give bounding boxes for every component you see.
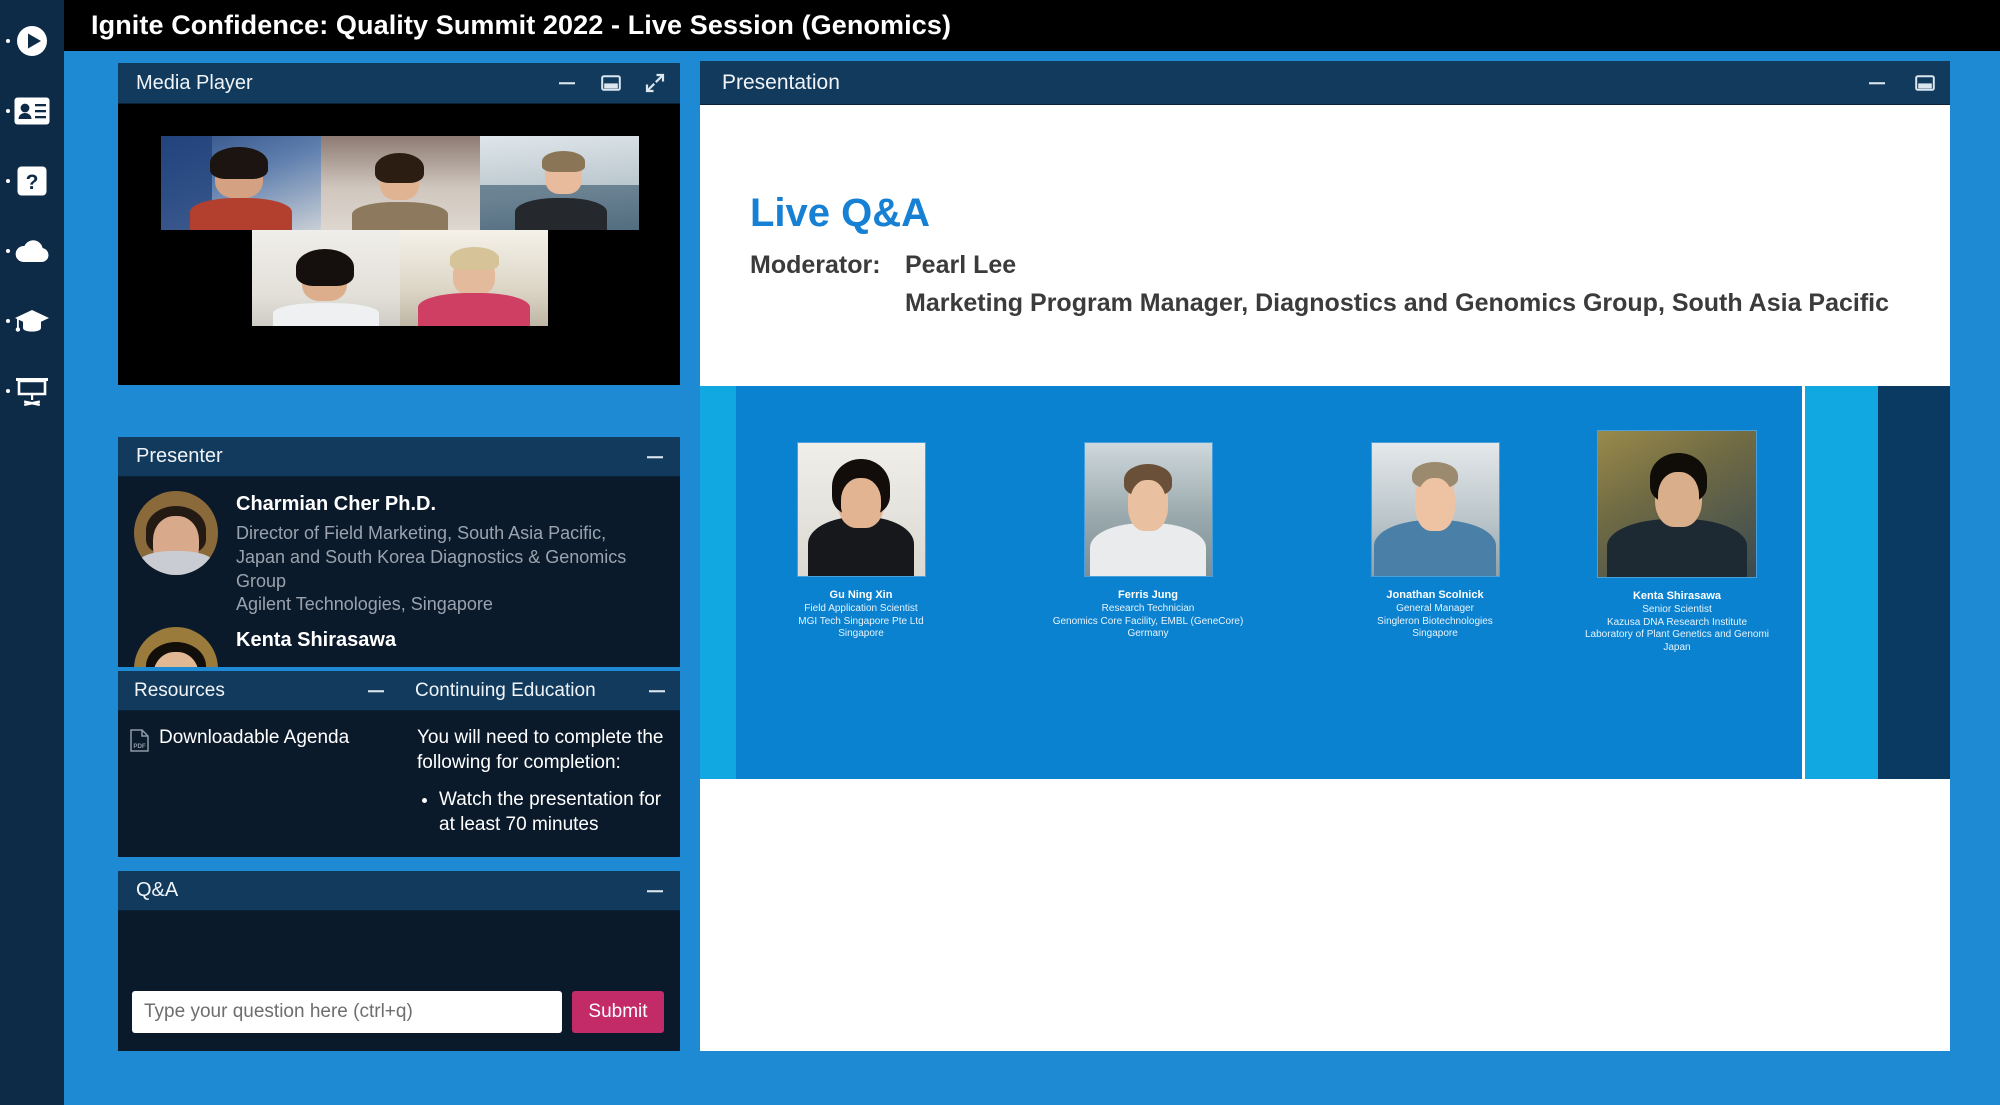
qa-header: Q&A [118,871,680,911]
presentation-panel: Presentation Live Q&A Moderator: Pearl L… [700,61,1950,1051]
title-bar: Ignite Confidence: Quality Summit 2022 -… [64,0,2000,51]
panelist-card: Gu Ning Xin Field Application Scientist … [746,442,976,641]
continuing-education-body: You will need to complete the following … [399,711,680,857]
media-play-icon[interactable] [15,24,49,58]
avatar [134,491,218,575]
page-title: Ignite Confidence: Quality Summit 2022 -… [64,10,951,41]
rail-bullet [6,109,10,113]
video-row-top [161,136,639,230]
presentation-controls [1866,72,1936,94]
rail-item-speaker-bio[interactable] [0,76,64,146]
continuing-education-requirements: Watch the presentation for at least 70 m… [439,787,666,837]
presenter-header: Presenter [118,437,680,477]
panelist-line: MGI Tech Singapore Pte Ltd [746,616,976,629]
presenter-panel: Presenter Charmian Cher Ph.D. Director o… [118,437,680,667]
slide-header-area: Live Q&A Moderator: Pearl Lee Marketing … [700,105,1950,386]
video-row-bottom [161,230,639,326]
minimize-icon[interactable] [1866,72,1888,94]
rail-item-media[interactable] [0,6,64,76]
presenter-name: Kenta Shirasawa [236,629,396,652]
panelist-line: Genomics Core Facility, EMBL (GeneCore) [1033,616,1263,629]
panelist-line: Research Technician [1033,603,1263,616]
rail-item-continuing-education[interactable] [0,286,64,356]
rail-bullet [6,319,10,323]
rail-bullet [6,179,10,183]
continuing-education-intro: You will need to complete the following … [417,725,666,775]
presenter-title: Presenter [136,445,223,468]
moderator-label: Moderator: [750,251,881,280]
slide-footer-area [700,779,1950,1051]
media-player-controls [556,72,666,94]
expand-icon[interactable] [644,72,666,94]
speaker-bio-icon[interactable] [14,97,50,125]
rail-item-presentation[interactable] [0,356,64,426]
minimize-icon[interactable] [644,446,666,468]
panelist-line: Singapore [1320,628,1550,641]
panelist-line: Kazusa DNA Research Institute [1562,617,1792,630]
rail-bullet [6,249,10,253]
rail-bullet [6,39,10,43]
list-item: Watch the presentation for at least 70 m… [439,787,666,837]
panelist-card: Kenta Shirasawa Senior Scientist Kazusa … [1562,430,1792,655]
pdf-file-icon[interactable]: PDF [130,729,149,757]
slide-accent-strip-right [1802,386,1878,779]
presentation-slide[interactable]: Live Q&A Moderator: Pearl Lee Marketing … [700,105,1950,1051]
resources-list: PDF Downloadable Agenda [118,711,399,857]
presenter-company-line: Agilent Technologies, Singapore [236,593,626,617]
resources-header: Resources [118,671,399,711]
resources-title: Resources [134,680,225,702]
panelist-line: Laboratory of Plant Genetics and Genomi [1562,629,1792,642]
slide-panelist-band: Gu Ning Xin Field Application Scientist … [700,386,1950,779]
rail-item-help[interactable]: ? [0,146,64,216]
panelist-name: Ferris Jung [1033,589,1263,603]
slide-title: Live Q&A [750,191,930,236]
qa-controls [644,880,666,902]
help-icon[interactable]: ? [17,166,47,196]
presenter-role-line: Group [236,570,626,594]
panelist-grid: Gu Ning Xin Field Application Scientist … [736,386,1802,779]
continuing-education-panel: Continuing Education You will need to co… [399,671,680,857]
certification-icon[interactable] [14,307,50,335]
panelist-line: Singapore [746,628,976,641]
panelist-line: Field Application Scientist [746,603,976,616]
presenter-details: Charmian Cher Ph.D. Director of Field Ma… [218,491,626,617]
media-player-video-area[interactable] [118,104,680,385]
video-tile-participant-1 [161,136,321,230]
qa-body: Submit [118,911,680,1051]
continuing-education-title: Continuing Education [415,680,596,702]
presenter-entry[interactable]: Kenta Shirasawa [118,617,680,667]
rail-bullet [6,389,10,393]
presenter-entry[interactable]: Charmian Cher Ph.D. Director of Field Ma… [118,477,680,617]
panelist-photo [797,442,926,577]
presentation-header: Presentation [700,61,1950,105]
minimize-icon[interactable] [644,880,666,902]
panelist-name: Jonathan Scolnick [1320,589,1550,603]
continuing-education-controls [646,680,668,702]
avatar [134,627,218,667]
minimize-icon[interactable] [646,680,668,702]
slide-accent-strip-left [700,386,736,779]
video-tile-participant-2 [321,136,480,230]
presentation-icon[interactable] [15,376,49,406]
presenter-name: Charmian Cher Ph.D. [236,493,626,516]
media-player-header: Media Player [118,63,680,104]
minimize-icon[interactable] [365,680,387,702]
panelist-photo [1597,430,1757,578]
presenter-controls [644,446,666,468]
app-rail: ? [0,0,64,1105]
restore-window-icon[interactable] [1914,72,1936,94]
resources-panel: Resources PDF Downloadable Agenda [118,671,399,857]
video-tile-participant-5 [400,230,548,326]
panelist-card: Ferris Jung Research Technician Genomics… [1033,442,1263,641]
panelist-line: Senior Scientist [1562,604,1792,617]
svg-text:PDF: PDF [133,743,146,750]
slide-accent-strip-dark [1878,386,1950,779]
restore-window-icon[interactable] [600,72,622,94]
rail-item-cloud[interactable] [0,216,64,286]
cloud-icon[interactable] [13,238,51,264]
resources-controls [365,680,387,702]
qa-question-input[interactable] [132,991,562,1033]
video-grid [161,136,639,336]
presenter-details: Kenta Shirasawa [218,627,396,667]
resource-link-downloadable-agenda[interactable]: Downloadable Agenda [159,727,349,749]
panelist-name: Kenta Shirasawa [1562,590,1792,604]
video-tile-participant-3 [480,136,639,230]
media-player-panel: Media Player [118,63,680,385]
moderator-name: Pearl Lee [905,251,1016,280]
workspace: Media Player [64,51,2000,1105]
video-tile-participant-4 [252,230,400,326]
presentation-title: Presentation [722,71,840,95]
qa-compose-row: Submit [132,991,664,1033]
media-player-title: Media Player [136,72,253,95]
panelist-photo [1371,442,1500,577]
presenter-list[interactable]: Charmian Cher Ph.D. Director of Field Ma… [118,477,680,667]
panelist-line: Japan [1562,642,1792,655]
panelist-line: General Manager [1320,603,1550,616]
qa-panel: Q&A Submit [118,871,680,1051]
presenter-role-line: Director of Field Marketing, South Asia … [236,522,626,546]
qa-submit-button[interactable]: Submit [572,991,664,1033]
panelist-line: Singleron Biotechnologies [1320,616,1550,629]
minimize-icon[interactable] [556,72,578,94]
panelist-name: Gu Ning Xin [746,589,976,603]
qa-title: Q&A [136,879,178,902]
moderator-role: Marketing Program Manager, Diagnostics a… [905,289,1889,318]
panelist-card: Jonathan Scolnick General Manager Single… [1320,442,1550,641]
panelist-line: Germany [1033,628,1263,641]
panelist-photo [1084,442,1213,577]
continuing-education-header: Continuing Education [399,671,680,711]
presenter-role-line: Japan and South Korea Diagnostics & Geno… [236,546,626,570]
svg-text:?: ? [26,171,39,194]
